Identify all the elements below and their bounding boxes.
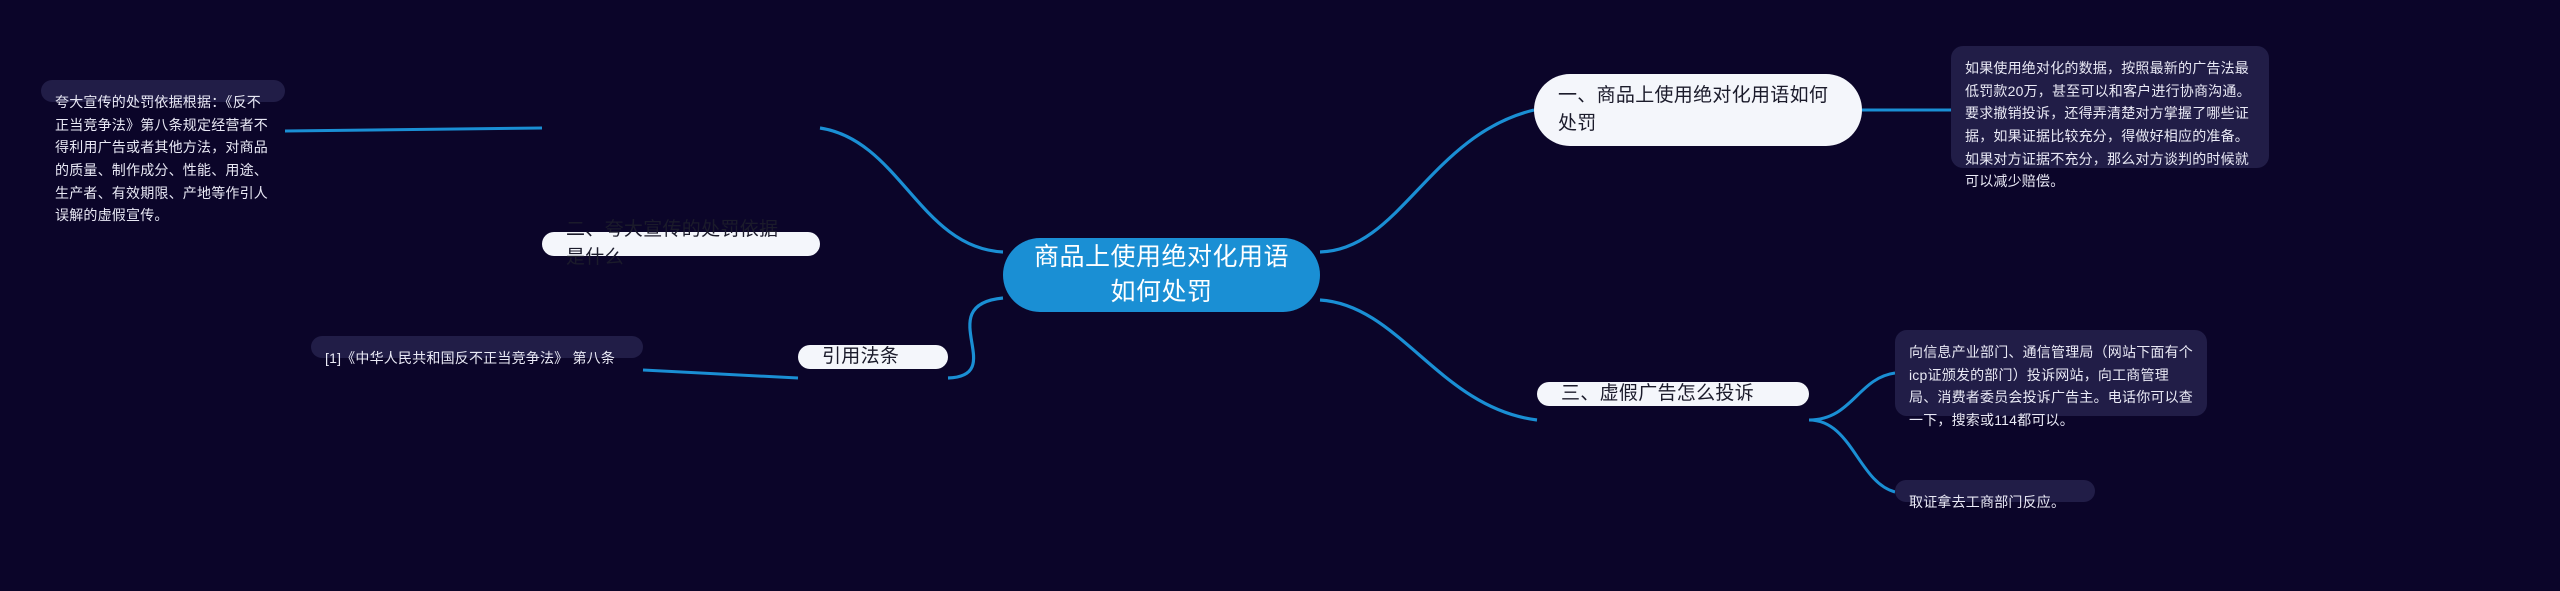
root-node[interactable]: 商品上使用绝对化用语如何处罚: [1003, 238, 1320, 312]
edge-root-to-branch1: [1320, 110, 1534, 252]
branch-node-4-label: 引用法条: [822, 343, 924, 371]
branch-node-1-label: 一、商品上使用绝对化用语如何处罚: [1558, 82, 1838, 139]
branch-node-2-label: 二、夸大宣传的处罚依据是什么: [566, 216, 796, 271]
branch-node-1[interactable]: 一、商品上使用绝对化用语如何处罚: [1534, 74, 1862, 146]
root-node-label: 商品上使用绝对化用语如何处罚: [1029, 240, 1294, 311]
note-box-3[interactable]: 取证拿去工商部门反应。: [1895, 480, 2095, 502]
note-box-1-text: 如果使用绝对化的数据，按照最新的广告法最低罚款20万，甚至可以和客户进行协商沟通…: [1965, 57, 2255, 193]
note-box-5[interactable]: 夸大宣传的处罚依据根据：《反不正当竞争法》第八条规定经营者不得利用广告或者其他方…: [41, 80, 285, 102]
edge-root-to-branch3: [1320, 300, 1537, 420]
mindmap-canvas: 商品上使用绝对化用语如何处罚 一、商品上使用绝对化用语如何处罚 二、夸大宣传的处…: [0, 0, 2560, 591]
branch-node-4[interactable]: 引用法条: [798, 345, 948, 369]
note-box-4[interactable]: [1]《中华人民共和国反不正当竞争法》 第八条: [311, 336, 643, 358]
branch-node-3[interactable]: 三、虚假广告怎么投诉: [1537, 382, 1809, 406]
edge-branch4-to-note4: [643, 370, 798, 378]
edge-root-to-branch2: [820, 128, 1003, 252]
edge-branch2-to-note5: [285, 128, 542, 131]
edge-root-to-branch4: [948, 298, 1003, 378]
note-box-5-text: 夸大宣传的处罚依据根据：《反不正当竞争法》第八条规定经营者不得利用广告或者其他方…: [55, 91, 271, 227]
note-box-2-text: 向信息产业部门、通信管理局（网站下面有个icp证颁发的部门）投诉网站，向工商管理…: [1909, 341, 2193, 432]
note-box-2[interactable]: 向信息产业部门、通信管理局（网站下面有个icp证颁发的部门）投诉网站，向工商管理…: [1895, 330, 2207, 416]
edge-branch3-to-note3: [1809, 420, 1895, 492]
branch-node-3-label: 三、虚假广告怎么投诉: [1561, 380, 1785, 408]
branch-node-2[interactable]: 二、夸大宣传的处罚依据是什么: [542, 232, 820, 256]
note-box-1[interactable]: 如果使用绝对化的数据，按照最新的广告法最低罚款20万，甚至可以和客户进行协商沟通…: [1951, 46, 2269, 168]
note-box-3-text: 取证拿去工商部门反应。: [1909, 491, 2065, 514]
note-box-4-text: [1]《中华人民共和国反不正当竞争法》 第八条: [325, 347, 615, 370]
edge-branch3-to-note2: [1809, 373, 1895, 420]
